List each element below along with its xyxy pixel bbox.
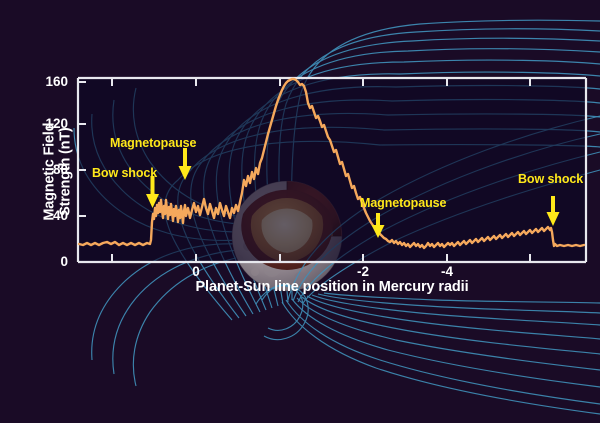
x-axis-label: Planet-Sun line position in Mercury radi… bbox=[78, 279, 586, 295]
x-tick-m4: -4 bbox=[427, 264, 467, 279]
annotation-bow-shock-left: Bow shock bbox=[92, 166, 157, 180]
y-tick-40: 40 bbox=[28, 208, 68, 223]
x-tick-0: 0 bbox=[176, 264, 216, 279]
plot-panel bbox=[0, 0, 600, 423]
annotation-magnetopause-left: Magnetopause bbox=[110, 136, 196, 150]
y-tick-160: 160 bbox=[28, 74, 68, 89]
x-tick-m2: -2 bbox=[343, 264, 383, 279]
y-tick-0: 0 bbox=[28, 254, 68, 269]
annotation-bow-shock-right: Bow shock bbox=[518, 172, 583, 186]
y-tick-120: 120 bbox=[28, 116, 68, 131]
y-tick-80: 80 bbox=[28, 162, 68, 177]
figure-canvas: Magnetic Field Strength (nT) 0 40 80 120… bbox=[0, 0, 600, 423]
annotation-magnetopause-right: Magnetopause bbox=[360, 196, 446, 210]
